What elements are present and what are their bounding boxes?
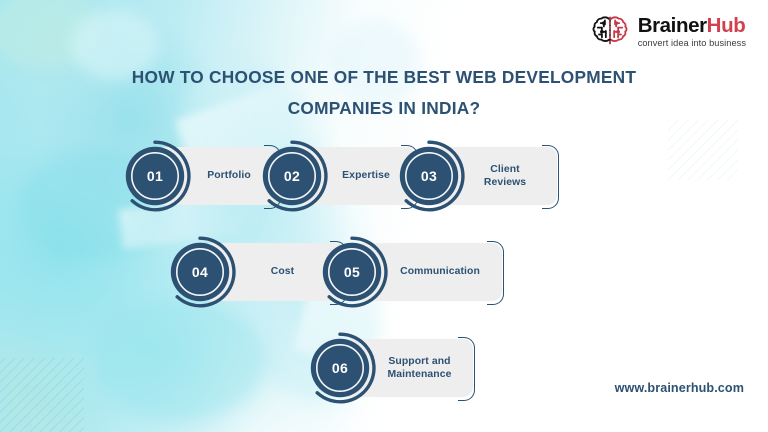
step-card-04[interactable]: Cost 04 [163, 235, 237, 309]
steps-container: Portfolio 01 Expertise [0, 0, 768, 432]
step-card-03[interactable]: Client Reviews 03 [392, 139, 466, 213]
step-card-05[interactable]: Communication 05 [315, 235, 389, 309]
step-badge: 01 [118, 139, 192, 213]
step-number: 01 [118, 139, 192, 213]
step-number: 02 [255, 139, 329, 213]
step-badge: 06 [303, 331, 377, 405]
steps-row-2: Cost 04 Communication [163, 235, 389, 309]
steps-row-3: Support and Maintenance 06 [303, 331, 377, 405]
infographic-canvas: BrainerHub convert idea into business HO… [0, 0, 768, 432]
step-badge: 03 [392, 139, 466, 213]
step-card-06[interactable]: Support and Maintenance 06 [303, 331, 377, 405]
step-label: Cost [241, 265, 305, 279]
step-number: 06 [303, 331, 377, 405]
step-number: 04 [163, 235, 237, 309]
step-number: 03 [392, 139, 466, 213]
step-badge: 04 [163, 235, 237, 309]
footer-website-url[interactable]: www.brainerhub.com [615, 381, 744, 395]
step-card-02[interactable]: Expertise 02 [255, 139, 329, 213]
step-badge: 02 [255, 139, 329, 213]
step-badge: 05 [315, 235, 389, 309]
step-number: 05 [315, 235, 389, 309]
steps-row-1: Portfolio 01 Expertise [118, 139, 466, 213]
step-card-01[interactable]: Portfolio 01 [118, 139, 192, 213]
